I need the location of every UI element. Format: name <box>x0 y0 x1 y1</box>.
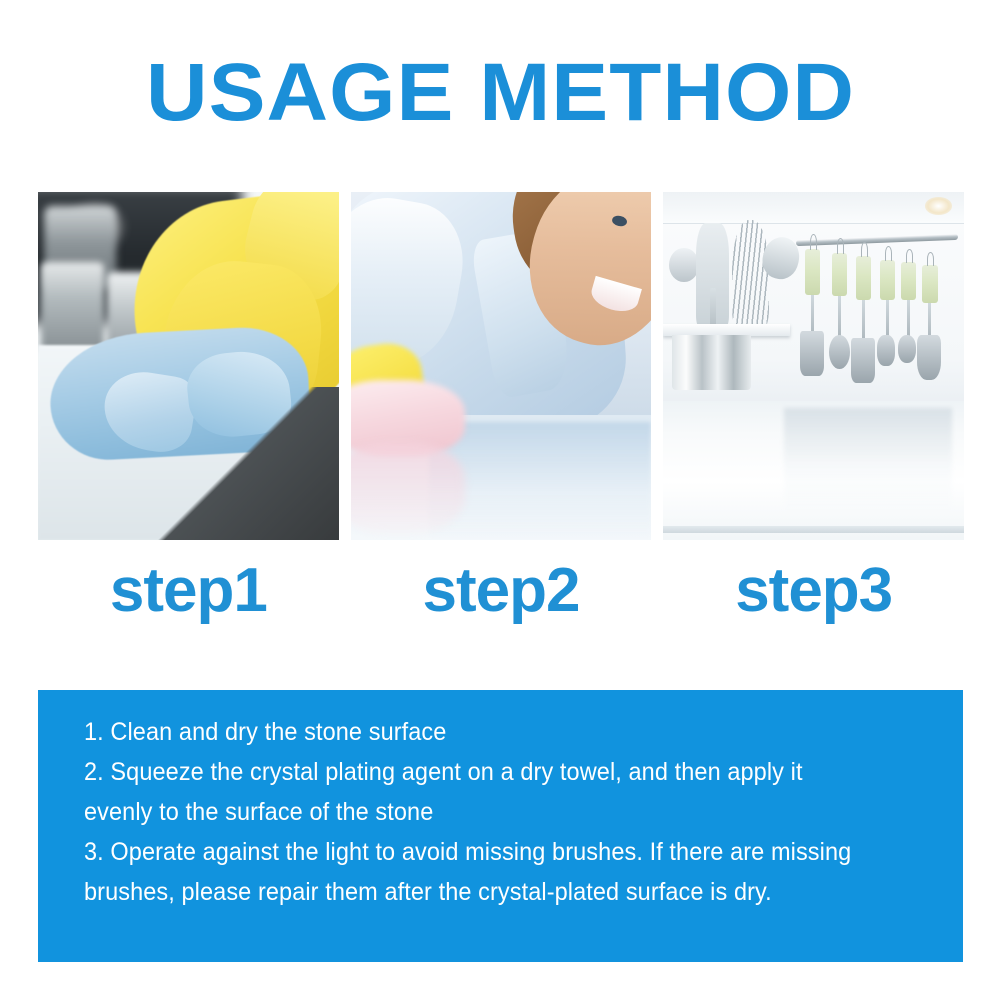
instruction-line-3: 3. Operate against the light to avoid mi… <box>84 832 873 912</box>
step-photo-row <box>38 192 964 540</box>
counter-edge <box>663 526 964 533</box>
step-photo-3 <box>663 192 964 540</box>
spatula-blade-3 <box>851 338 875 383</box>
instructions-panel: 1. Clean and dry the stone surface 2. Sq… <box>38 690 963 962</box>
utensil-reflection <box>784 408 952 512</box>
page-title: USAGE METHOD <box>0 52 1001 134</box>
step-label-2: step2 <box>351 549 652 633</box>
skimmer-bowl-2 <box>829 335 850 370</box>
hanging-utensil-4 <box>880 260 896 300</box>
step-label-1: step1 <box>38 549 339 633</box>
infographic-page: USAGE METHOD <box>0 0 1001 1001</box>
spatula-blade-1 <box>800 331 824 376</box>
hanging-utensil-3 <box>856 256 872 300</box>
whisk-icon <box>732 220 768 331</box>
step-photo-1 <box>38 192 339 540</box>
hanging-utensil-2 <box>832 253 848 297</box>
pot-icon-b <box>41 262 104 352</box>
ceiling <box>663 192 964 224</box>
hanging-utensil-6 <box>922 265 938 303</box>
tongs-head-4 <box>877 335 895 366</box>
step-label-row: step1 step2 step3 <box>38 549 964 633</box>
ceiling-light <box>925 197 952 214</box>
hanging-utensil-1 <box>805 249 821 294</box>
server-head-5 <box>898 335 916 363</box>
utensil-holder <box>672 335 750 391</box>
step-photo-2 <box>351 192 652 540</box>
sponge-reflection <box>351 443 465 533</box>
counter-edge-shadow <box>158 387 338 540</box>
hanging-utensil-5 <box>901 262 917 300</box>
slotted-spatula-icon <box>696 223 729 327</box>
instruction-line-1: 1. Clean and dry the stone surface <box>84 712 873 752</box>
masher-head-6 <box>917 335 941 380</box>
instruction-line-2: 2. Squeeze the crystal plating agent on … <box>84 752 873 832</box>
step-label-3: step3 <box>663 549 964 633</box>
